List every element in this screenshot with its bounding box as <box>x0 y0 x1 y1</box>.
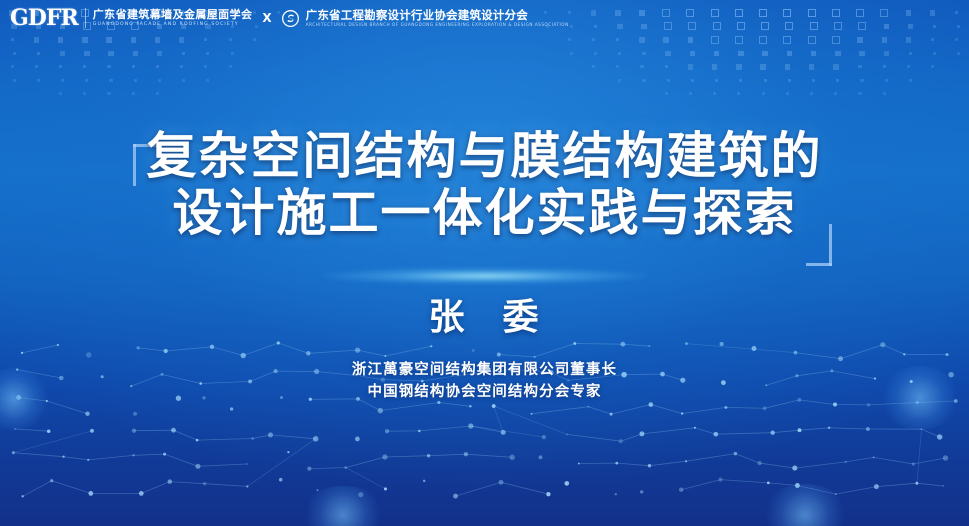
grid-square <box>783 9 791 17</box>
grid-square <box>155 37 161 43</box>
grid-square <box>667 79 670 82</box>
grid-square <box>206 52 209 55</box>
grid-square <box>107 92 110 95</box>
affiliation-line: 中国钢结构协会空间结构分会专家 <box>0 381 969 403</box>
grid-square <box>133 51 139 57</box>
grid-square <box>132 92 135 95</box>
grid-square <box>11 65 14 68</box>
grid-square <box>665 65 668 68</box>
title-underglow <box>320 268 650 284</box>
grid-square <box>957 25 960 28</box>
grid-square <box>592 65 595 68</box>
grid-square <box>158 79 161 82</box>
primary-society-name: 广东省建筑幕墙及金属屋面学会 GUANGDONG FACADE AND ROOF… <box>93 9 253 28</box>
grid-square <box>738 51 744 57</box>
grid-square <box>616 65 619 68</box>
grid-square <box>809 64 815 70</box>
grid-square <box>664 22 672 30</box>
grid-square <box>686 9 694 17</box>
speaker-surname: 张 <box>428 297 466 338</box>
grid-square <box>107 65 110 68</box>
grid-square <box>688 64 694 70</box>
grid-square <box>735 36 743 44</box>
grid-square <box>618 79 621 82</box>
grid-square <box>737 22 745 30</box>
grid-square <box>182 52 185 55</box>
grid-square <box>857 37 863 43</box>
grid-square <box>783 36 791 44</box>
grid-square <box>759 9 767 17</box>
grid-square <box>712 64 718 70</box>
grid-square <box>908 24 914 30</box>
grid-square <box>35 65 38 68</box>
grid-square <box>713 92 716 95</box>
grid-square <box>640 65 643 68</box>
grid-square <box>930 10 936 16</box>
secondary-association-name-en: ARCHITECTURAL DESIGN BRANCH OF GUANGDONG… <box>306 21 569 28</box>
affiliation-line: 浙江萬豪空间结构集团有限公司董事长 <box>0 359 969 381</box>
primary-society-name-en: GUANGDONG FACADE AND ROOFING SOCIETY <box>93 21 253 28</box>
slide-title: 复杂空间结构与膜结构建筑的 设计施工一体化实践与探索 <box>0 128 969 242</box>
grid-square <box>736 64 742 70</box>
grid-square <box>231 52 234 55</box>
grid-square <box>13 52 16 55</box>
grid-square <box>786 92 789 95</box>
grid-square <box>762 51 768 57</box>
header-logo-bar: GDFR 广东省建筑幕墙及金属屋面学会 GUANGDONG FACADE AND… <box>10 7 569 29</box>
grid-square <box>885 79 888 82</box>
grid-square <box>955 38 958 41</box>
grid-square <box>594 52 597 55</box>
swirl-logo-icon <box>282 10 299 27</box>
grid-square <box>665 92 668 95</box>
grid-square <box>253 38 256 41</box>
grid-square <box>883 92 886 95</box>
grid-square <box>179 37 185 43</box>
grid-square <box>642 79 645 82</box>
grid-square <box>808 9 816 17</box>
grid-square <box>882 37 888 43</box>
grid-square <box>691 79 694 82</box>
grid-square <box>132 65 135 68</box>
grid-square <box>591 10 597 16</box>
grid-square <box>808 36 816 44</box>
logo-divider <box>85 8 86 28</box>
grid-square <box>812 79 815 82</box>
title-line-2: 设计施工一体化实践与探索 <box>0 185 969 242</box>
grid-square <box>832 36 840 44</box>
grid-square <box>688 37 694 43</box>
grid-square <box>665 51 671 57</box>
secondary-association-name: 广东省工程勘察设计行业协会建筑设计分会 ARCHITECTURAL DESIGN… <box>306 9 569 28</box>
grid-square <box>689 92 692 95</box>
grid-square <box>615 10 621 16</box>
grid-square <box>663 37 669 43</box>
grid-square <box>34 37 40 43</box>
grid-square <box>83 65 86 68</box>
grid-square <box>909 52 912 55</box>
grid-square <box>37 79 40 82</box>
grid-square <box>761 22 769 30</box>
grid-square <box>883 65 886 68</box>
grid-square <box>764 79 767 82</box>
grid-square <box>859 51 865 57</box>
grid-square <box>787 51 793 57</box>
grid-square <box>858 92 861 95</box>
grid-square <box>182 79 185 82</box>
grid-square <box>906 37 912 43</box>
grid-square <box>13 79 16 82</box>
grid-square <box>688 22 696 30</box>
grid-square <box>61 79 64 82</box>
grid-square <box>711 9 719 17</box>
grid-square <box>811 51 817 57</box>
grid-square <box>836 79 839 82</box>
grid-square <box>157 51 163 57</box>
grid-square <box>616 38 619 41</box>
grid-square <box>83 92 86 95</box>
grid-square <box>642 52 645 55</box>
grid-square <box>570 52 573 55</box>
grid-square <box>735 9 743 17</box>
grid-square <box>641 24 647 30</box>
grid-square <box>955 11 958 14</box>
grid-square <box>106 37 112 43</box>
glow-blob <box>300 486 386 526</box>
grid-square <box>156 65 159 68</box>
logo-separator-x: X <box>262 11 271 25</box>
grid-square <box>204 65 207 68</box>
grid-square <box>617 24 623 30</box>
grid-square <box>909 79 912 82</box>
grid-square <box>737 92 740 95</box>
grid-square <box>860 79 863 82</box>
grid-square <box>60 51 66 57</box>
grid-square <box>84 51 90 57</box>
grid-square <box>570 25 573 28</box>
grid-square <box>639 37 645 43</box>
grid-square <box>785 64 791 70</box>
grid-square <box>715 79 718 82</box>
grid-square <box>618 52 621 55</box>
grid-square <box>204 38 207 41</box>
grid-square <box>856 9 864 17</box>
grid-square <box>109 79 112 82</box>
grid-square <box>957 52 960 55</box>
grid-square <box>810 92 813 95</box>
grid-square <box>58 37 64 43</box>
grid-square <box>880 9 888 17</box>
gdfr-wordmark-icon: GDFR <box>10 7 78 29</box>
grid-square <box>884 24 890 30</box>
grid-square <box>835 51 841 57</box>
grid-square <box>933 25 936 28</box>
grid-square <box>592 38 595 41</box>
grid-square <box>759 36 767 44</box>
grid-square <box>37 52 40 55</box>
grid-square <box>690 51 696 57</box>
grid-square <box>884 51 890 57</box>
grid-square <box>810 22 818 30</box>
grid-square <box>713 22 721 30</box>
grid-square <box>131 37 137 43</box>
grid-square <box>714 51 720 57</box>
grid-square <box>229 38 232 41</box>
grid-square <box>833 64 839 70</box>
speaker-affiliations: 浙江萬豪空间结构集团有限公司董事长 中国钢结构协会空间结构分会专家 <box>0 359 969 403</box>
grid-square <box>931 38 934 41</box>
grid-square <box>762 92 765 95</box>
grid-square <box>785 22 793 30</box>
grid-square <box>85 79 88 82</box>
grid-square <box>858 65 861 68</box>
grid-square <box>907 65 910 68</box>
grid-square <box>59 92 62 95</box>
grid-square <box>662 9 670 17</box>
grid-square <box>108 51 114 57</box>
grid-square <box>834 92 837 95</box>
grid-square <box>59 65 62 68</box>
grid-square <box>788 79 791 82</box>
grid-square <box>82 37 88 43</box>
glow-blob <box>760 484 850 526</box>
speaker-name: 张委 <box>0 296 969 340</box>
presentation-slide: GDFR 广东省建筑幕墙及金属屋面学会 GUANGDONG FACADE AND… <box>0 0 969 526</box>
grid-square <box>156 92 159 95</box>
grid-square <box>906 10 912 16</box>
grid-square <box>858 22 866 30</box>
grid-square <box>834 22 842 30</box>
grid-square <box>711 36 719 44</box>
speaker-given-name: 委 <box>503 297 541 338</box>
grid-square <box>639 10 645 16</box>
grid-square <box>931 65 934 68</box>
title-line-1: 复杂空间结构与膜结构建筑的 <box>0 128 969 185</box>
grid-square <box>832 9 840 17</box>
grid-square <box>206 79 209 82</box>
grid-square <box>134 79 137 82</box>
grid-square <box>11 38 14 41</box>
grid-square <box>594 25 597 28</box>
grid-square <box>229 65 232 68</box>
grid-square <box>739 79 742 82</box>
grid-square <box>180 65 183 68</box>
primary-society-name-cn: 广东省建筑幕墙及金属屋面学会 <box>93 9 253 21</box>
grid-square <box>933 52 936 55</box>
grid-square <box>760 64 766 70</box>
grid-square <box>568 38 571 41</box>
secondary-association-name-cn: 广东省工程勘察设计行业协会建筑设计分会 <box>306 9 569 21</box>
